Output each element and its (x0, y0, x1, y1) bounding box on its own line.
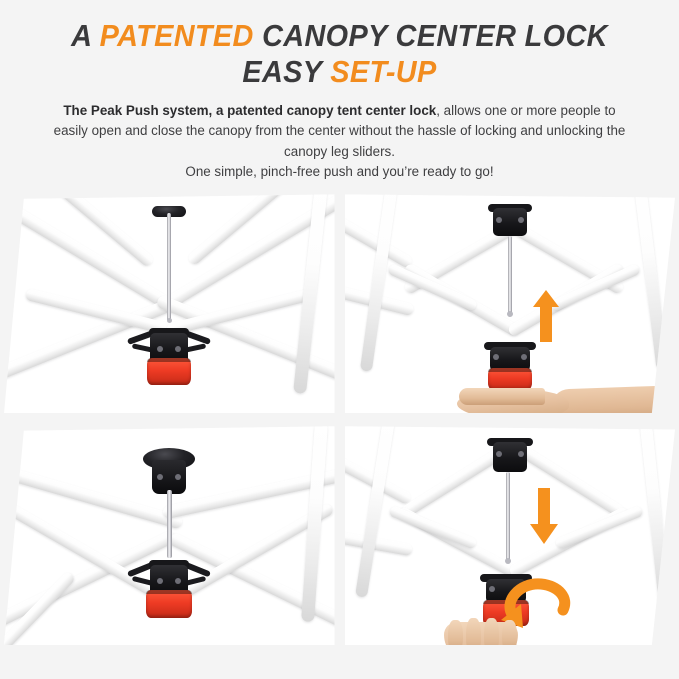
center-rod (167, 490, 172, 558)
panel-twist-down (345, 426, 676, 645)
red-release-cap (146, 590, 192, 618)
finger (484, 618, 499, 645)
arrow-up-icon (533, 290, 559, 342)
header-block: A PATENTED CANOPY CENTER LOCK EASY SET-U… (0, 0, 679, 182)
panel-collapsed-view (4, 194, 335, 413)
center-lock-hub (136, 320, 202, 392)
title-part-c: EASY (242, 54, 330, 89)
top-bracket (488, 204, 532, 240)
bracket-bolt (518, 451, 524, 457)
panel-push-up (345, 194, 676, 413)
frame-tube-vertical-left (354, 426, 394, 598)
rod-tip (507, 311, 513, 317)
bracket-bolt (496, 451, 502, 457)
panel-extended (4, 426, 335, 645)
hand-forearm (550, 385, 675, 413)
frame-tube-vertical-right (633, 194, 668, 370)
photo-push-up (345, 194, 676, 413)
frame-tube (554, 505, 643, 550)
frame-tube (345, 524, 413, 557)
two-hands (444, 616, 603, 645)
frame-tube-vertical-left (359, 194, 397, 372)
title-line1: A PATENTED CANOPY CENTER LOCK (71, 18, 608, 53)
page-title: A PATENTED CANOPY CENTER LOCK EASY SET-U… (37, 18, 642, 90)
title-line2: EASY SET-UP (37, 54, 642, 90)
hand-fingers (459, 388, 545, 405)
infographic-root: A PATENTED CANOPY CENTER LOCK EASY SET-U… (0, 0, 679, 679)
panel-grid (0, 194, 679, 679)
title-highlight-setup: SET-UP (330, 54, 436, 89)
top-bracket (487, 438, 533, 476)
photo-twist-down (345, 426, 676, 645)
center-rod (508, 236, 512, 314)
photo-collapsed-frame (4, 194, 335, 413)
center-lock-hub (136, 554, 202, 626)
arrow-down-icon (530, 488, 558, 544)
red-release-cap (147, 358, 191, 385)
title-part-a: A (71, 18, 100, 53)
finger (466, 618, 481, 645)
description-bold-lead: The Peak Push system, a patented canopy … (63, 103, 436, 118)
frame-tube-vertical-right (639, 426, 671, 606)
bracket-body (493, 442, 527, 472)
photo-extended-frame (4, 426, 335, 645)
open-hand (457, 379, 675, 413)
finger (448, 620, 463, 645)
title-highlight-patented: PATENTED (100, 18, 254, 53)
center-rod (167, 213, 171, 321)
center-rod (506, 472, 510, 562)
description-paragraph: The Peak Push system, a patented canopy … (14, 101, 665, 183)
description-closing-line: One simple, pinch-free push and you’re r… (185, 164, 493, 179)
title-part-b: CANOPY CENTER LOCK (254, 18, 608, 53)
finger (502, 620, 517, 645)
